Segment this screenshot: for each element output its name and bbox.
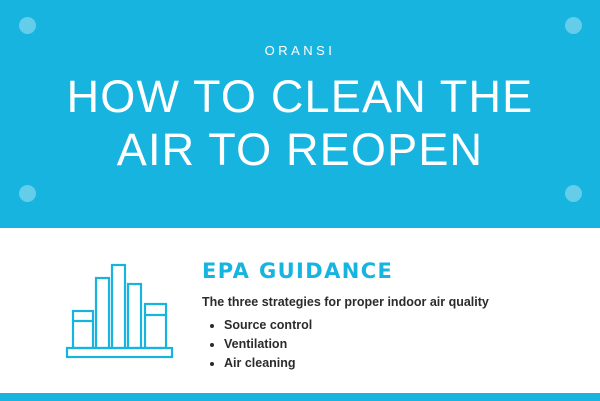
content-section: EPA GUIDANCE The three strategies for pr… xyxy=(0,228,600,401)
infographic-page: ORANSI HOW TO CLEAN THE AIR TO REOPEN xyxy=(0,0,600,401)
section-subtitle: The three strategies for proper indoor a… xyxy=(202,295,582,309)
page-title-line-1: HOW TO CLEAN THE xyxy=(0,70,600,123)
air-purifier-icon xyxy=(62,254,177,369)
page-title-line-2: AIR TO REOPEN xyxy=(0,123,600,176)
footer-accent-bar xyxy=(0,393,600,401)
list-item: Ventilation xyxy=(224,335,582,354)
decorative-dot-top-left xyxy=(19,17,36,34)
decorative-dot-bottom-left xyxy=(19,185,36,202)
page-title: HOW TO CLEAN THE AIR TO REOPEN xyxy=(0,70,600,176)
list-item: Air cleaning xyxy=(224,354,582,373)
guidance-content: EPA GUIDANCE The three strategies for pr… xyxy=(202,259,582,373)
strategies-list: Source control Ventilation Air cleaning xyxy=(202,316,582,373)
section-title: EPA GUIDANCE xyxy=(202,259,582,283)
header-banner: ORANSI HOW TO CLEAN THE AIR TO REOPEN xyxy=(0,0,600,228)
list-item: Source control xyxy=(224,316,582,335)
decorative-dot-bottom-right xyxy=(565,185,582,202)
decorative-dot-top-right xyxy=(565,17,582,34)
brand-name: ORANSI xyxy=(0,43,600,58)
